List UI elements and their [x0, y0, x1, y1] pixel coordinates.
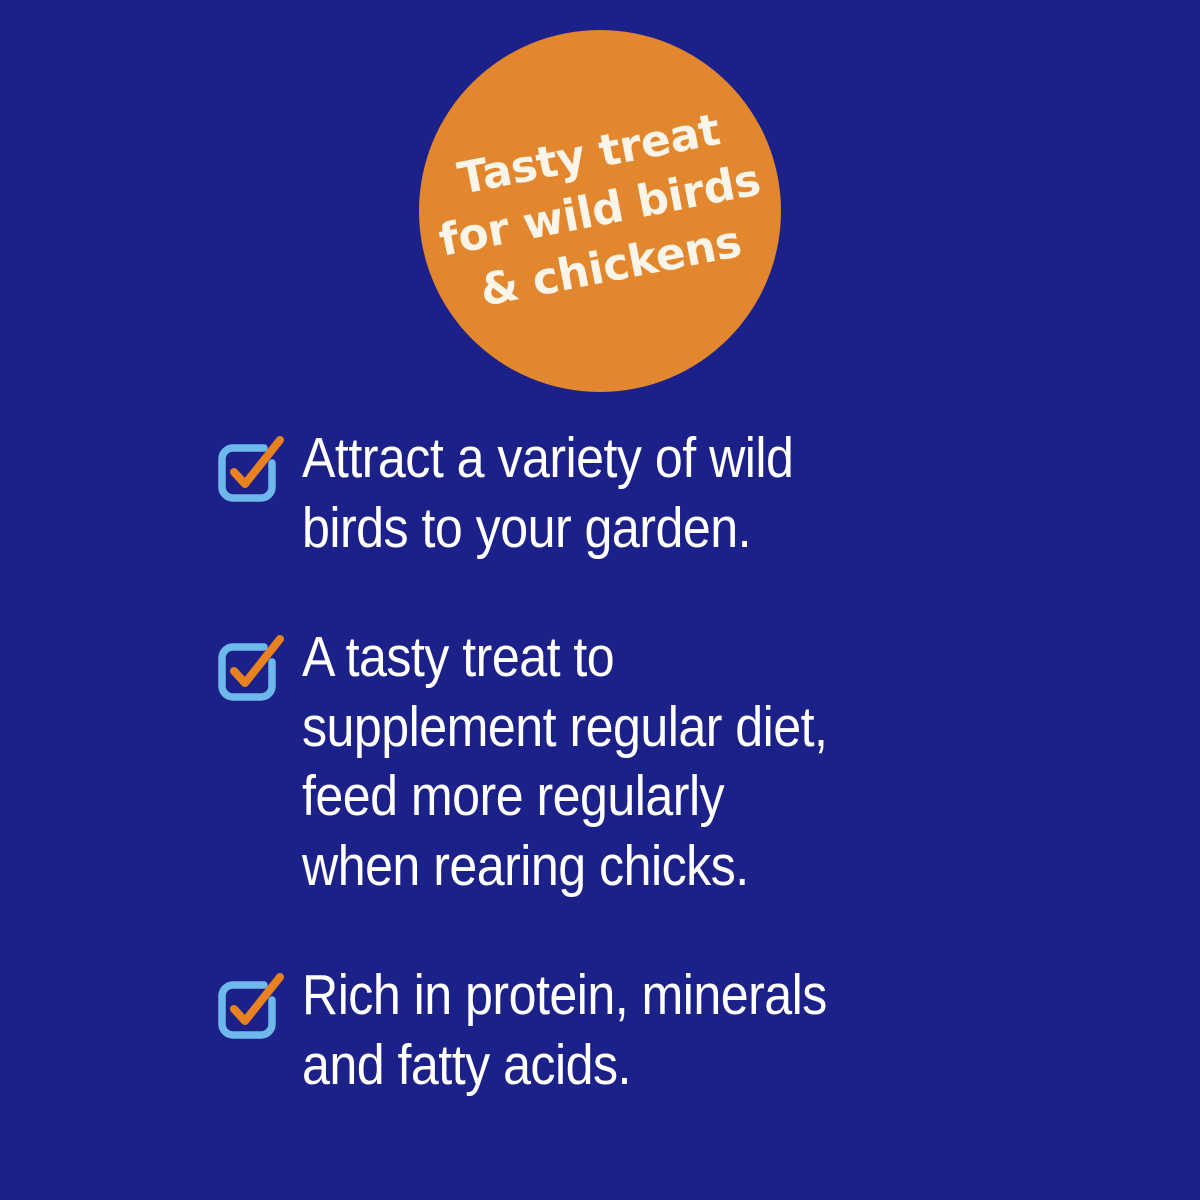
bullet-line: supplement regular diet, — [302, 693, 966, 763]
feature-bullet-list: Attract a variety of wild birds to your … — [216, 424, 1056, 1100]
feature-bullet-item: Rich in protein, minerals and fatty acid… — [216, 961, 1056, 1100]
bullet-line: and fatty acids. — [302, 1031, 966, 1101]
checkbox-checked-icon — [216, 438, 282, 504]
product-feature-poster: Tasty treat for wild birds & chickens At… — [0, 0, 1200, 1200]
checkbox-checked-icon — [216, 637, 282, 703]
bullet-line: when rearing chicks. — [302, 832, 966, 902]
bullet-line: birds to your garden. — [302, 494, 966, 564]
feature-bullet-text: Attract a variety of wild birds to your … — [302, 424, 966, 563]
feature-bullet-text: Rich in protein, minerals and fatty acid… — [302, 961, 966, 1100]
checkbox-checked-icon — [216, 975, 282, 1041]
bullet-line: Attract a variety of wild — [302, 424, 966, 494]
badge-text: Tasty treat for wild birds & chickens — [424, 96, 776, 325]
feature-bullet-item: Attract a variety of wild birds to your … — [216, 424, 1056, 563]
feature-bullet-item: A tasty treat to supplement regular diet… — [216, 623, 1056, 901]
bullet-line: feed more regularly — [302, 762, 966, 832]
bullet-line: A tasty treat to — [302, 623, 966, 693]
bullet-line: Rich in protein, minerals — [302, 961, 966, 1031]
tasty-treat-badge: Tasty treat for wild birds & chickens — [419, 30, 781, 392]
feature-bullet-text: A tasty treat to supplement regular diet… — [302, 623, 966, 901]
